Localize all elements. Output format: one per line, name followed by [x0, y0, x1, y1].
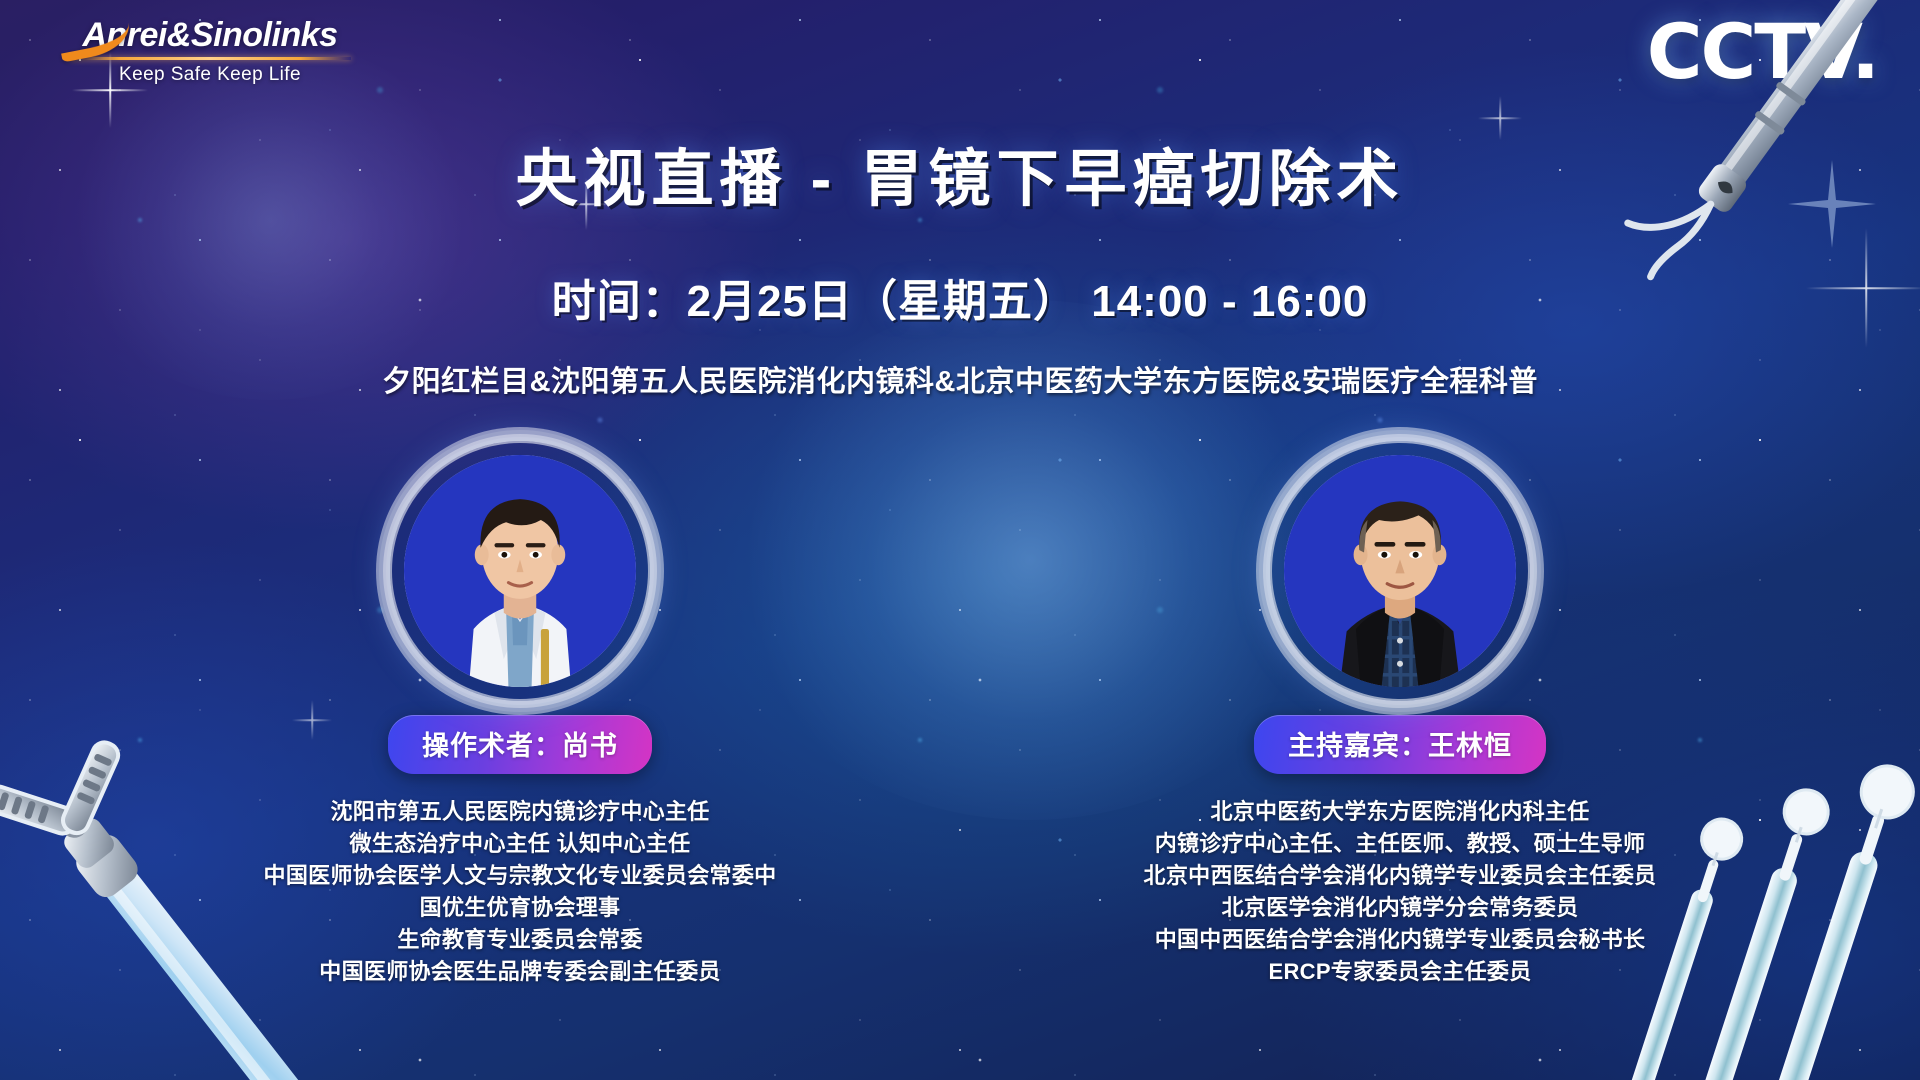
cctv-logo: CCTV.	[1647, 14, 1878, 90]
bio-line: 中国中西医结合学会消化内镜学专业委员会秘书长	[1040, 924, 1760, 956]
bio-line: 北京医学会消化内镜学分会常务委员	[1040, 892, 1760, 924]
speaker-badge-host: 主持嘉宾：王林恒	[1254, 715, 1546, 774]
avatar-photo-host	[1284, 455, 1516, 687]
avatar-photo-operator	[404, 455, 636, 687]
speaker-badge-operator: 操作术者：尚书	[388, 715, 652, 774]
bio-line: 北京中西医结合学会消化内镜学专业委员会主任委员	[1040, 860, 1760, 892]
event-partners: 夕阳红栏目&沈阳第五人民医院消化内镜科&北京中医药大学东方医院&安瑞医疗全程科普	[0, 358, 1920, 400]
bio-line: 生命教育专业委员会常委	[160, 924, 880, 956]
bio-line: 北京中医药大学东方医院消化内科主任	[1040, 796, 1760, 828]
portrait-illustration-host	[1284, 455, 1516, 687]
speakers-section: 操作术者：尚书 沈阳市第五人民医院内镜诊疗中心主任 微生态治疗中心主任 认知中心…	[0, 455, 1920, 1015]
nebula-glow-left	[60, 40, 480, 400]
avatar-operator	[404, 455, 636, 687]
brand-tagline: Keep Safe Keep Life	[60, 64, 360, 86]
brand-divider	[69, 57, 351, 60]
bio-line: 国优生优育协会理事	[160, 892, 880, 924]
bio-line: 沈阳市第五人民医院内镜诊疗中心主任	[160, 796, 880, 828]
speaker-card-host: 主持嘉宾：王林恒 北京中医药大学东方医院消化内科主任 内镜诊疗中心主任、主任医师…	[1040, 455, 1760, 988]
event-datetime: 时间：2月25日（星期五） 14:00 - 16:00	[0, 265, 1920, 329]
bio-line: 中国医师协会医生品牌专委会副主任委员	[160, 956, 880, 988]
speaker-card-operator: 操作术者：尚书 沈阳市第五人民医院内镜诊疗中心主任 微生态治疗中心主任 认知中心…	[160, 455, 880, 988]
brand-logo: Anrei&Sinolinks Keep Safe Keep Life	[60, 18, 360, 86]
speaker-bio-host: 北京中医药大学东方医院消化内科主任 内镜诊疗中心主任、主任医师、教授、硕士生导师…	[1040, 796, 1760, 988]
portrait-illustration-operator	[404, 455, 636, 687]
bio-line: 中国医师协会医学人文与宗教文化专业委员会常委中	[160, 860, 880, 892]
speaker-bio-operator: 沈阳市第五人民医院内镜诊疗中心主任 微生态治疗中心主任 认知中心主任 中国医师协…	[160, 796, 880, 988]
bio-line: ERCP专家委员会主任委员	[1040, 956, 1760, 988]
page-title: 央视直播 - 胃镜下早癌切除术	[0, 128, 1920, 218]
bio-line: 微生态治疗中心主任 认知中心主任	[160, 828, 880, 860]
bio-line: 内镜诊疗中心主任、主任医师、教授、硕士生导师	[1040, 828, 1760, 860]
livestream-poster: Anrei&Sinolinks Keep Safe Keep Life CCTV…	[0, 0, 1920, 1080]
avatar-host	[1284, 455, 1516, 687]
